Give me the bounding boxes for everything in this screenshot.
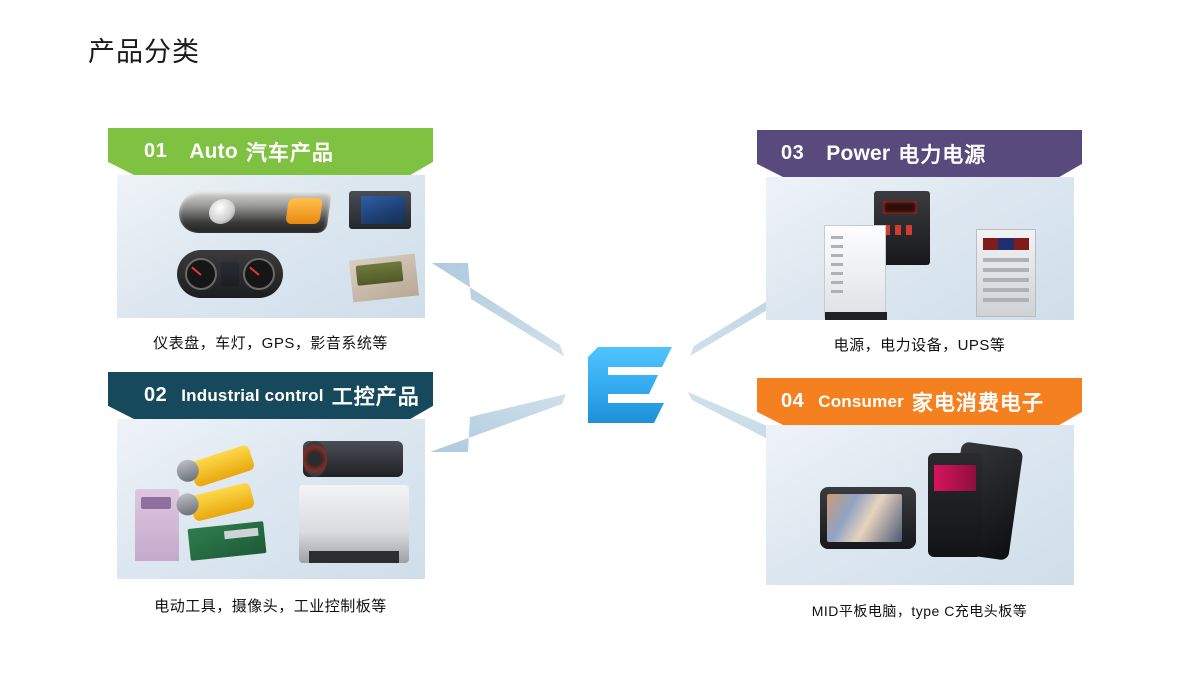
- card-auto-photo: [117, 175, 425, 318]
- card-industrial-title-en: Industrial control: [181, 386, 323, 406]
- angle-grinder-icon: [188, 444, 255, 488]
- ups-unit-icon: [976, 229, 1036, 317]
- voltage-stabilizer-icon: [824, 225, 886, 317]
- instrument-cluster-icon: [177, 250, 283, 298]
- card-auto-number: 01: [144, 140, 167, 163]
- card-auto-title-cn: 汽车产品: [246, 137, 334, 167]
- ce-logo: [548, 305, 708, 465]
- card-power-number: 03: [781, 142, 804, 165]
- card-industrial-photo: [117, 419, 425, 579]
- card-auto[interactable]: 01 Auto 汽车产品 仪表盘，车灯，GPS，影音系统等: [108, 128, 433, 353]
- card-consumer-photo: [766, 425, 1074, 585]
- card-consumer-caption: MID平板电脑，type C充电头板等: [757, 601, 1082, 621]
- card-industrial-banner: 02 Industrial control 工控产品: [108, 372, 433, 419]
- card-power-caption: 电源，电力设备，UPS等: [757, 334, 1082, 355]
- card-auto-caption: 仪表盘，车灯，GPS，影音系统等: [108, 332, 433, 353]
- car-headlamp-icon: [176, 191, 332, 233]
- card-power-photo: [766, 177, 1074, 320]
- mid-tablet-icon: [820, 487, 916, 549]
- angle-grinder-icon: [188, 482, 254, 522]
- card-consumer-title-en: Consumer: [818, 392, 904, 412]
- cnc-machine-icon: [299, 485, 409, 563]
- card-power-banner: 03 Power 电力电源: [757, 130, 1082, 177]
- logo-letter-e: [588, 347, 672, 423]
- car-gps-unit-icon: [349, 191, 411, 229]
- card-industrial-number: 02: [144, 384, 167, 407]
- card-power-title-en: Power: [826, 142, 890, 166]
- card-consumer-banner: 04 Consumer 家电消费电子: [757, 378, 1082, 425]
- card-consumer-title-cn: 家电消费电子: [912, 387, 1044, 417]
- smartphone-front-icon: [928, 453, 982, 557]
- card-industrial-caption: 电动工具，摄像头，工业控制板等: [108, 595, 433, 616]
- card-auto-banner: 01 Auto 汽车产品: [108, 128, 433, 175]
- cctv-camera-icon: [303, 441, 403, 477]
- card-power-title-cn: 电力电源: [898, 139, 986, 169]
- card-industrial-title-cn: 工控产品: [332, 381, 420, 411]
- arrow-to-card-01: [432, 263, 564, 356]
- car-pcb-board-icon: [348, 254, 418, 303]
- card-consumer[interactable]: 04 Consumer 家电消费电子 MID平板电脑，type C充电头板等: [757, 378, 1082, 621]
- card-auto-title-en: Auto: [189, 140, 238, 164]
- card-industrial[interactable]: 02 Industrial control 工控产品 电动工具，摄像头，工业控制…: [108, 372, 433, 616]
- slide-root: 产品分类: [0, 0, 1200, 675]
- card-consumer-number: 04: [781, 390, 804, 413]
- pci-control-board-icon: [187, 521, 266, 561]
- arrow-to-card-02: [430, 394, 566, 452]
- industrial-cabinet-icon: [135, 489, 179, 561]
- card-power[interactable]: 03 Power 电力电源 电源，电力设备，UPS等: [757, 130, 1082, 355]
